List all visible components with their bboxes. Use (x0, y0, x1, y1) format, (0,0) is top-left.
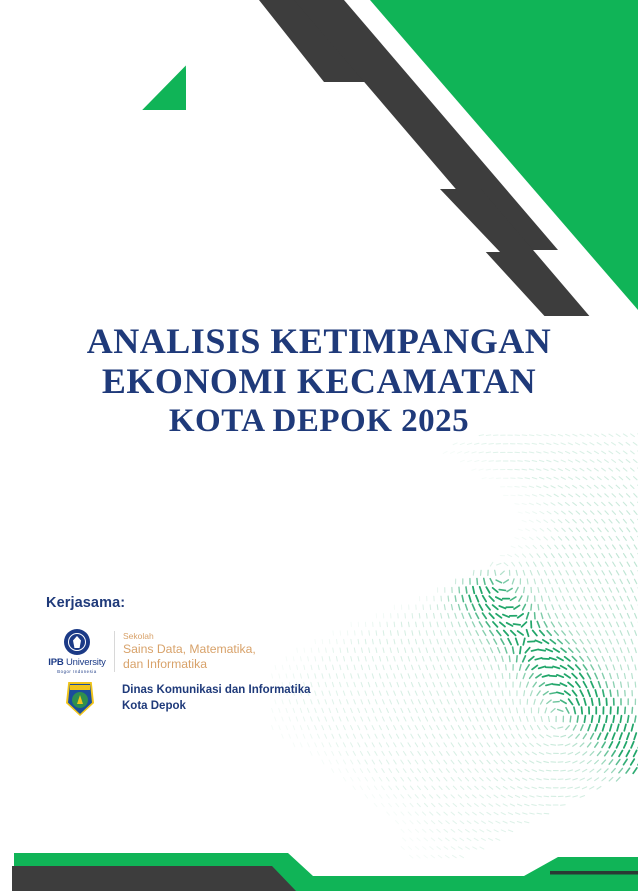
ipb-divider (114, 631, 115, 672)
depok-city-seal-icon (66, 682, 94, 716)
report-cover-page: ANALISIS KETIMPANGAN EKONOMI KECAMATAN K… (0, 0, 638, 891)
depok-agency-line-2: Kota Depok (122, 699, 311, 715)
title-line-3: KOTA DEPOK 2025 (0, 403, 638, 439)
bottom-green-band-right (524, 857, 638, 876)
depok-seal-emblem (72, 692, 88, 708)
depok-seal-banner (70, 685, 90, 690)
top-decoration (0, 0, 638, 891)
leaf-shape-icon (62, 38, 186, 110)
partners-block: Kerjasama: IPB University Bogor Indonesi… (46, 595, 311, 722)
ipb-wordmark: IPB University (48, 657, 105, 668)
ipb-school-line-1: Sains Data, Matematika, (123, 642, 256, 657)
depok-logo (46, 682, 114, 716)
ipb-school-prefix: Sekolah (123, 631, 256, 641)
ipb-seal-shield-icon (73, 636, 81, 648)
partner-row-ipb: IPB University Bogor Indonesia Sekolah S… (46, 629, 311, 674)
ipb-seal-icon (64, 629, 90, 655)
ipb-school-line-2: dan Informatika (123, 657, 256, 672)
dotted-wave-decoration (0, 0, 638, 891)
partner-row-depok: Dinas Komunikasi dan Informatika Kota De… (46, 682, 311, 716)
title-line-1: ANALISIS KETIMPANGAN (0, 322, 638, 362)
depok-agency-line-1: Dinas Komunikasi dan Informatika (122, 683, 311, 699)
bottom-decoration (0, 0, 638, 891)
bottom-charcoal-band (12, 866, 318, 891)
diagonal-stripe-long-stepped (294, 0, 558, 250)
bottom-dark-accent-stripe (550, 871, 638, 875)
cutout-step-2 (420, 168, 500, 252)
cutout-wedge-1 (0, 0, 255, 260)
ipb-wordmark-bold: IPB (48, 657, 63, 668)
ipb-tagline: Bogor Indonesia (57, 669, 97, 674)
title-line-2: EKONOMI KECAMATAN (0, 362, 638, 402)
green-triangle-shape (370, 0, 638, 310)
depok-agency-text: Dinas Komunikasi dan Informatika Kota De… (114, 683, 311, 715)
kerjasama-label: Kerjasama: (46, 595, 311, 611)
ipb-school-text: Sekolah Sains Data, Matematika, dan Info… (123, 631, 256, 671)
ipb-wordmark-rest: University (64, 657, 106, 668)
cover-title-block: ANALISIS KETIMPANGAN EKONOMI KECAMATAN K… (0, 322, 638, 439)
bottom-green-band (14, 853, 638, 891)
diagonal-stripe-short (259, 0, 374, 82)
ipb-logo: IPB University Bogor Indonesia (46, 629, 114, 674)
top-decoration-cutouts (0, 0, 638, 891)
